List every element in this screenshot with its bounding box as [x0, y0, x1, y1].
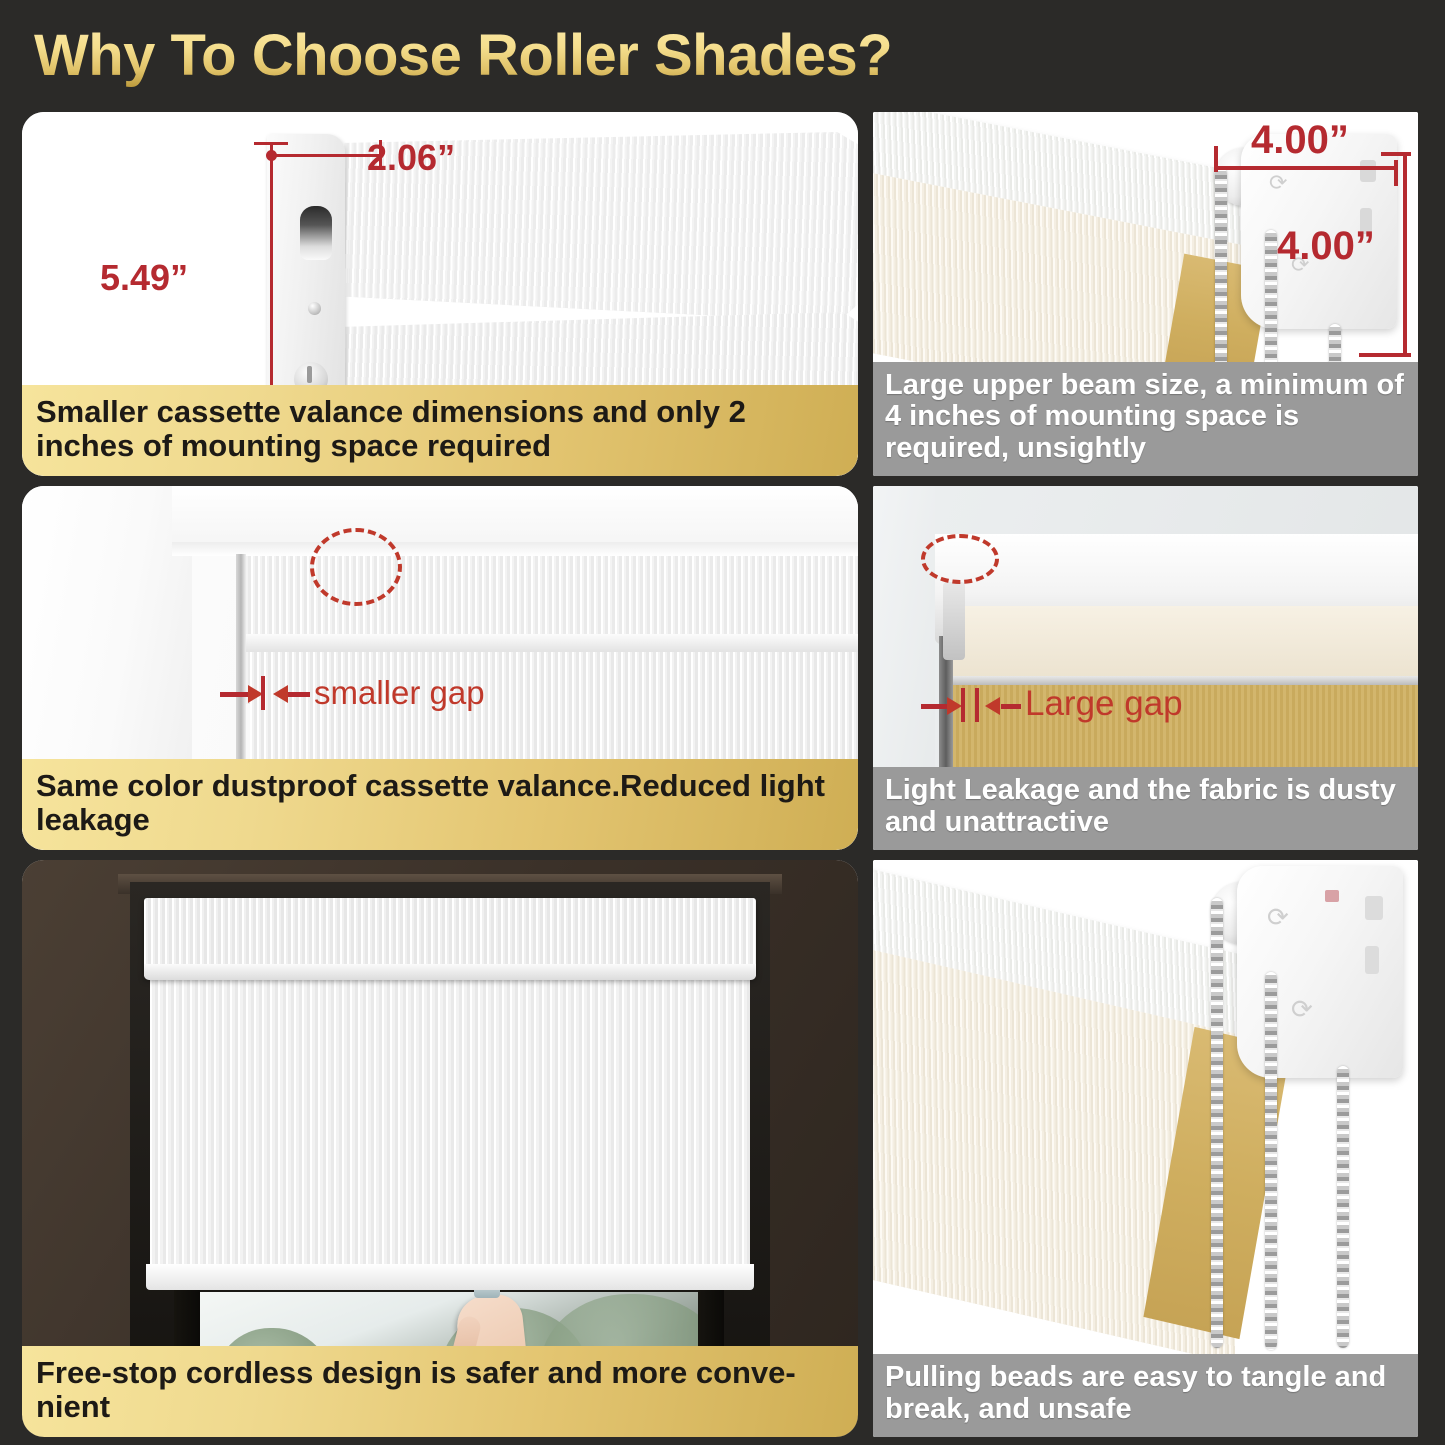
- fabric-divider: [949, 676, 1418, 685]
- bead-chain-back: [1337, 1066, 1349, 1348]
- bracket-clip: [943, 582, 965, 660]
- width-dimension-line: [270, 154, 382, 157]
- gap-arrow-right-shaft: [288, 692, 310, 697]
- highlight-circle: [310, 528, 402, 606]
- bead-chain-front: [1215, 168, 1227, 393]
- width-dimension-line: [1216, 166, 1398, 170]
- height-tick-top: [1381, 152, 1411, 156]
- gap-measure-bar: [261, 676, 265, 710]
- bracket-red-marker: [1325, 890, 1339, 902]
- gap-arrow-right-head: [273, 685, 288, 703]
- height-dimension-label: 5.49”: [100, 257, 188, 299]
- gap-callout-label: Large gap: [1025, 684, 1183, 724]
- gap-arrow-right-head: [985, 697, 1000, 715]
- gap-arrow-left-head: [947, 697, 962, 715]
- cream-fabric-band: [949, 606, 1418, 678]
- bead-chain-middle: [1265, 972, 1277, 1350]
- width-dimension-label: 2.06”: [367, 137, 455, 179]
- shade-fabric: [150, 980, 750, 1270]
- caption-light-gap-ours: Same color dustproof cassette valance.Re…: [22, 759, 858, 850]
- height-dimension-line: [1403, 152, 1407, 357]
- caption-mounting-space-theirs: Large upper beam size, a minimum of 4 in…: [873, 362, 1418, 476]
- caption-light-gap-theirs: Light Leakage and the fabric is dusty an…: [873, 767, 1418, 850]
- panel-mounting-space-ours[interactable]: 2.06” 5.49” Smaller cassette valance dim…: [22, 112, 858, 476]
- height-tick-bottom: [1359, 353, 1411, 357]
- panel-mounting-space-theirs[interactable]: ⟳ ⟳ 4.00” 4.00” Large upper beam size, a…: [873, 112, 1418, 476]
- window-frame-bevel: [172, 542, 858, 556]
- bead-chain-front: [1211, 898, 1223, 1348]
- bracket-keyhole-bottom: [1365, 946, 1379, 974]
- bracket-keyhole-top: [1360, 160, 1376, 182]
- bracket-arrow-icon-bottom: ⟳: [1291, 994, 1313, 1025]
- bracket-slot: [300, 206, 332, 260]
- gap-arrow-left-shaft: [921, 704, 949, 709]
- caption-operation-theirs: Pulling beads are easy to tangle and bre…: [873, 1354, 1418, 1437]
- gap-callout-label: smaller gap: [314, 674, 485, 712]
- height-tick-top: [254, 142, 288, 145]
- width-tick-right: [1394, 160, 1398, 186]
- beaded-chain-roller-shade-image: ⟳ ⟳: [873, 860, 1418, 1437]
- comparison-grid: 2.06” 5.49” Smaller cassette valance dim…: [0, 104, 1445, 1445]
- panel-operation-ours[interactable]: Free-stop cordless design is safer and m…: [22, 860, 858, 1437]
- panel-operation-theirs[interactable]: ⟳ ⟳ Pulling beads are easy to tangle and…: [873, 860, 1418, 1437]
- gap-measure-bar-a: [961, 688, 965, 722]
- valance-lip: [144, 964, 756, 980]
- page-title: Why To Choose Roller Shades?: [34, 22, 892, 89]
- panel-light-gap-ours[interactable]: smaller gap Same color dustproof cassett…: [22, 486, 858, 850]
- gap-arrow-right-shaft: [1001, 704, 1021, 709]
- caption-mounting-space-ours: Smaller cassette valance dimensions and …: [22, 385, 858, 476]
- gap-arrow-left-shaft: [220, 692, 250, 697]
- bracket-arrow-icon-top: ⟳: [1267, 902, 1289, 933]
- highlight-circle: [921, 534, 999, 584]
- bracket-keyhole-top: [1365, 896, 1383, 920]
- gap-measure-bar-b: [975, 688, 979, 722]
- width-tick-left: [1214, 146, 1218, 172]
- shade-mid-rail: [244, 634, 858, 652]
- header: Why To Choose Roller Shades?: [0, 0, 1445, 104]
- panel-light-gap-theirs[interactable]: Large gap Light Leakage and the fabric i…: [873, 486, 1418, 850]
- bracket-arrow-icon-top: ⟳: [1269, 170, 1287, 196]
- height-dimension-label: 4.00”: [1277, 224, 1375, 269]
- width-dimension-label: 4.00”: [1251, 118, 1349, 163]
- caption-operation-ours: Free-stop cordless design is safer and m…: [22, 1346, 858, 1437]
- shade-bottom-bar: [146, 1264, 754, 1290]
- screw-upper: [308, 302, 321, 315]
